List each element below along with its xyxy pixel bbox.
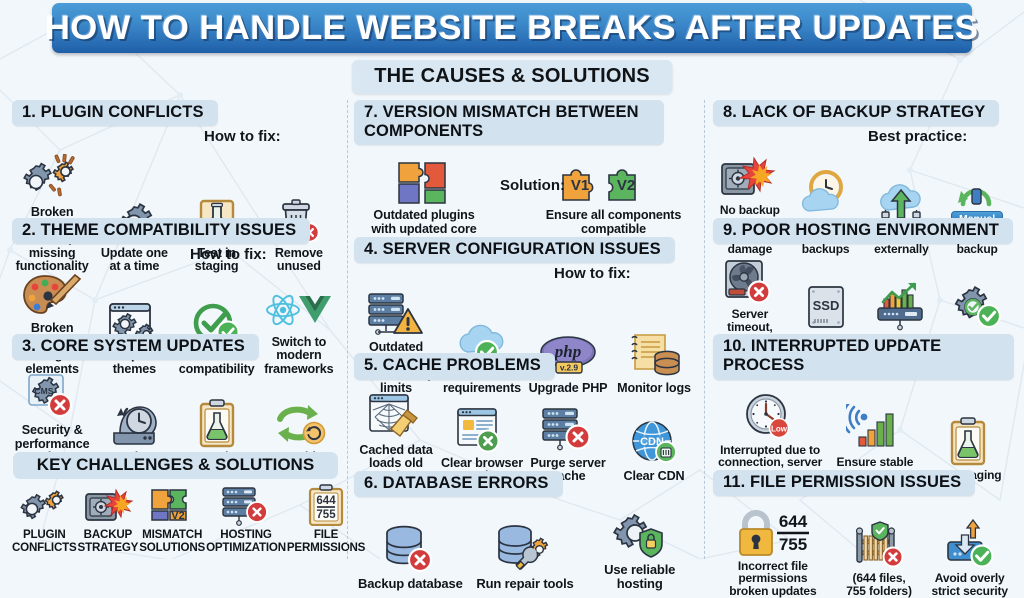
kc-item-backup-strategy: BACKUP STRATEGY — [78, 484, 139, 554]
section-title: 5. CACHE PROBLEMS — [364, 356, 541, 375]
browser-clear-icon — [454, 401, 510, 455]
kc-caption: MISMATCH SOLUTIONS — [139, 529, 205, 554]
item-caption: Outdated plugins with updated core — [371, 209, 476, 236]
kc-caption: BACKUP STRATEGY — [78, 529, 139, 554]
ssd-drive-icon: SSD — [803, 278, 849, 332]
item-run-repair-tools: Run repair tools — [469, 521, 582, 591]
section-title: 11. FILE PERMISSION ISSUES — [723, 473, 961, 492]
cms-error-icon: CMS — [24, 368, 80, 422]
item-ensure-compatible: V1 V2 Ensure all components compatible — [531, 153, 696, 236]
item-incorrect-permissions: 644 755 Incorrect file permissions broke… — [713, 504, 833, 598]
kc-item-mismatch-solutions: V2 MISMATCH SOLUTIONS — [139, 484, 205, 554]
refresh-cycle-icon — [270, 395, 328, 449]
section-header: 7. VERSION MISMATCH BETWEEN COMPONENTS — [354, 100, 664, 145]
column-right: 8. LACK OF BACKUP STRATEGY Best practice… — [705, 100, 1024, 559]
how-to-fix-label: How to fix: — [190, 246, 267, 263]
kc-item-hosting-optimization: HOSTING OPTIMIZATION — [206, 484, 286, 554]
section-server-configuration: 4. SERVER CONFIGURATION ISSUES How to fi… — [354, 237, 696, 351]
server-optimize-icon — [217, 484, 275, 526]
clipboard-flask-icon — [947, 413, 989, 467]
section-lack-of-backup: 8. LACK OF BACKUP STRATEGY Best practice… — [713, 100, 1014, 216]
server-purge-icon — [538, 401, 598, 455]
gears-clash-icon — [17, 150, 87, 204]
svg-text:CMS: CMS — [35, 386, 54, 396]
puzzle-v2-icon: V2 — [146, 484, 198, 526]
backup-clock-icon — [106, 395, 162, 449]
safe-explosion-icon — [80, 484, 136, 526]
section-title: 6. DATABASE ERRORS — [364, 474, 549, 493]
item-reliable-hosting: Use reliable hosting — [583, 507, 696, 591]
section-plugin-conflicts: 1. PLUGIN CONFLICTS How to fix: — [12, 100, 339, 216]
section-core-system-updates: 3. CORE SYSTEM UPDATES CMS — [12, 334, 339, 448]
section-database-errors: 6. DATABASE ERRORS — [354, 471, 696, 585]
clock-low-icon: Low — [741, 388, 799, 442]
section-title: 9. POOR HOSTING ENVIRONMENT — [723, 221, 999, 240]
puzzle-v1-v2-icon: V1 V2 — [559, 153, 669, 207]
perm-755-text: 755 — [316, 509, 336, 521]
item-interrupted-connection: Low Interrupted due to connection, serve… — [713, 388, 827, 482]
gears-clash-icon — [16, 484, 72, 526]
clock-cloud-icon — [799, 161, 853, 215]
section-header: 10. INTERRUPTED UPDATE PROCESS — [713, 334, 1014, 379]
page-subtitle: THE CAUSES & SOLUTIONS — [374, 65, 650, 88]
section-header: 6. DATABASE ERRORS — [354, 471, 563, 497]
page-title: HOW TO HANDLE WEBSITE BREAKS AFTER UPDAT… — [45, 9, 979, 48]
item-backup-database: Backup database — [354, 521, 467, 591]
how-to-fix-label: How to fix: — [204, 128, 281, 145]
key-challenges-header: KEY CHALLENGES & SOLUTIONS — [12, 452, 339, 479]
infographic-page: HOW TO HANDLE WEBSITE BREAKS AFTER UPDAT… — [0, 0, 1024, 559]
section-cache-problems: 5. CACHE PROBLEMS — [354, 353, 696, 467]
section-title: 7. VERSION MISMATCH BETWEEN COMPONENTS — [364, 103, 642, 141]
cdn-globe-icon: CDN — [626, 414, 682, 468]
section-version-mismatch: 7. VERSION MISMATCH BETWEEN COMPONENTS S… — [354, 100, 696, 235]
item-caption: Avoid overly strict security — [931, 572, 1007, 598]
v1-badge-text: V1 — [570, 177, 588, 194]
section-poor-hosting: 9. POOR HOSTING ENVIRONMENT — [713, 218, 1014, 332]
ssd-logo-text: SSD — [812, 298, 839, 313]
title-banner: HOW TO HANDLE WEBSITE BREAKS AFTER UPDAT… — [52, 3, 972, 53]
upload-allowed-icon — [942, 516, 998, 570]
perm-755-text: 755 — [779, 535, 807, 554]
v2-badge-text: V2 — [171, 510, 184, 522]
item-caption: Run repair tools — [476, 577, 573, 591]
section-header: 1. PLUGIN CONFLICTS — [12, 100, 218, 126]
section-title: 3. CORE SYSTEM UPDATES — [22, 337, 245, 356]
section-title: 2. THEME COMPATIBILITY ISSUES — [22, 221, 296, 240]
signal-bars-icon — [846, 400, 904, 454]
subtitle-pill: THE CAUSES & SOLUTIONS — [352, 60, 672, 94]
server-warning-icon — [364, 285, 428, 339]
item-caption: Incorrect file permissions broken update… — [713, 560, 833, 598]
key-challenges-title: KEY CHALLENGES & SOLUTIONS — [13, 452, 338, 479]
column-middle: 7. VERSION MISMATCH BETWEEN COMPONENTS S… — [347, 100, 705, 559]
clipboard-permissions-icon: 644 755 — [302, 484, 350, 526]
how-to-fix-label: How to fix: — [554, 265, 631, 282]
section-header: 8. LACK OF BACKUP STRATEGY — [713, 100, 999, 126]
column-left: 1. PLUGIN CONFLICTS How to fix: — [0, 100, 347, 559]
cobweb-broom-icon — [365, 388, 427, 442]
lock-permissions-icon: 644 755 — [731, 504, 815, 558]
fence-blocked-icon — [850, 516, 908, 570]
section-title: 4. SERVER CONFIGURATION ISSUES — [364, 240, 661, 259]
best-practice-label: Best practice: — [868, 128, 967, 145]
section-interrupted-update: 10. INTERRUPTED UPDATE PROCESS — [713, 334, 1014, 467]
kc-caption: PLUGIN CONFLICTS — [12, 529, 77, 554]
item-avoid-strict-security: Avoid overly strict security — [925, 516, 1014, 598]
perm-644-text: 644 — [316, 495, 336, 507]
section-header: 11. FILE PERMISSION ISSUES — [713, 470, 975, 496]
puzzle-four-icon — [391, 153, 457, 207]
performance-chart-icon — [872, 278, 930, 332]
columns-container: 1. PLUGIN CONFLICTS How to fix: — [0, 100, 1024, 559]
section-title: 8. LACK OF BACKUP STRATEGY — [723, 103, 985, 122]
low-badge-text: Low — [771, 424, 788, 433]
item-files-folders: (644 files, 755 folders) — [835, 516, 924, 598]
item-caption: Backup database — [358, 577, 463, 591]
section-title: 10. INTERRUPTED UPDATE PROCESS — [723, 337, 1000, 375]
item-caption: Ensure all components compatible — [546, 209, 681, 236]
palette-brush-icon — [21, 266, 83, 320]
section-header: 5. CACHE PROBLEMS — [354, 353, 555, 379]
section-key-challenges: KEY CHALLENGES & SOLUTIONS — [12, 452, 339, 554]
gear-check-icon — [949, 278, 1005, 332]
section-header: 9. POOR HOSTING ENVIRONMENT — [713, 218, 1013, 244]
header: HOW TO HANDLE WEBSITE BREAKS AFTER UPDAT… — [0, 0, 1024, 56]
database-error-icon — [379, 521, 441, 575]
section-title: 1. PLUGIN CONFLICTS — [22, 103, 204, 122]
v2-badge-text: V2 — [616, 177, 634, 194]
item-caption: (644 files, 755 folders) — [846, 572, 912, 598]
react-vue-logos-icon — [265, 280, 333, 334]
kc-item-plugin-conflicts: PLUGIN CONFLICTS — [12, 484, 77, 554]
safe-explosion-icon — [718, 148, 782, 202]
section-theme-compatibility: 2. THEME COMPATIBILITY ISSUES How to fix… — [12, 218, 339, 332]
item-caption: Use reliable hosting — [583, 563, 696, 591]
clipboard-flask-icon — [196, 395, 238, 449]
solution-label: Solution: — [500, 177, 565, 194]
item-cached-data: Cached data loads old versions — [354, 388, 438, 484]
database-repair-icon — [492, 521, 558, 575]
item-outdated-plugins: Outdated plugins with updated core — [354, 153, 494, 236]
kc-caption: HOSTING OPTIMIZATION — [206, 529, 286, 554]
section-file-permissions: 11. FILE PERMISSION ISSUES 644 — [713, 470, 1014, 584]
section-header: 4. SERVER CONFIGURATION ISSUES — [354, 237, 675, 263]
section-header: 2. THEME COMPATIBILITY ISSUES — [12, 218, 310, 244]
server-fan-error-icon — [721, 252, 779, 306]
key-challenges-items: PLUGIN CONFLICTS — [12, 484, 339, 554]
gear-shield-icon — [609, 507, 671, 561]
perm-644-text: 644 — [779, 512, 808, 531]
section-header: 3. CORE SYSTEM UPDATES — [12, 334, 259, 360]
